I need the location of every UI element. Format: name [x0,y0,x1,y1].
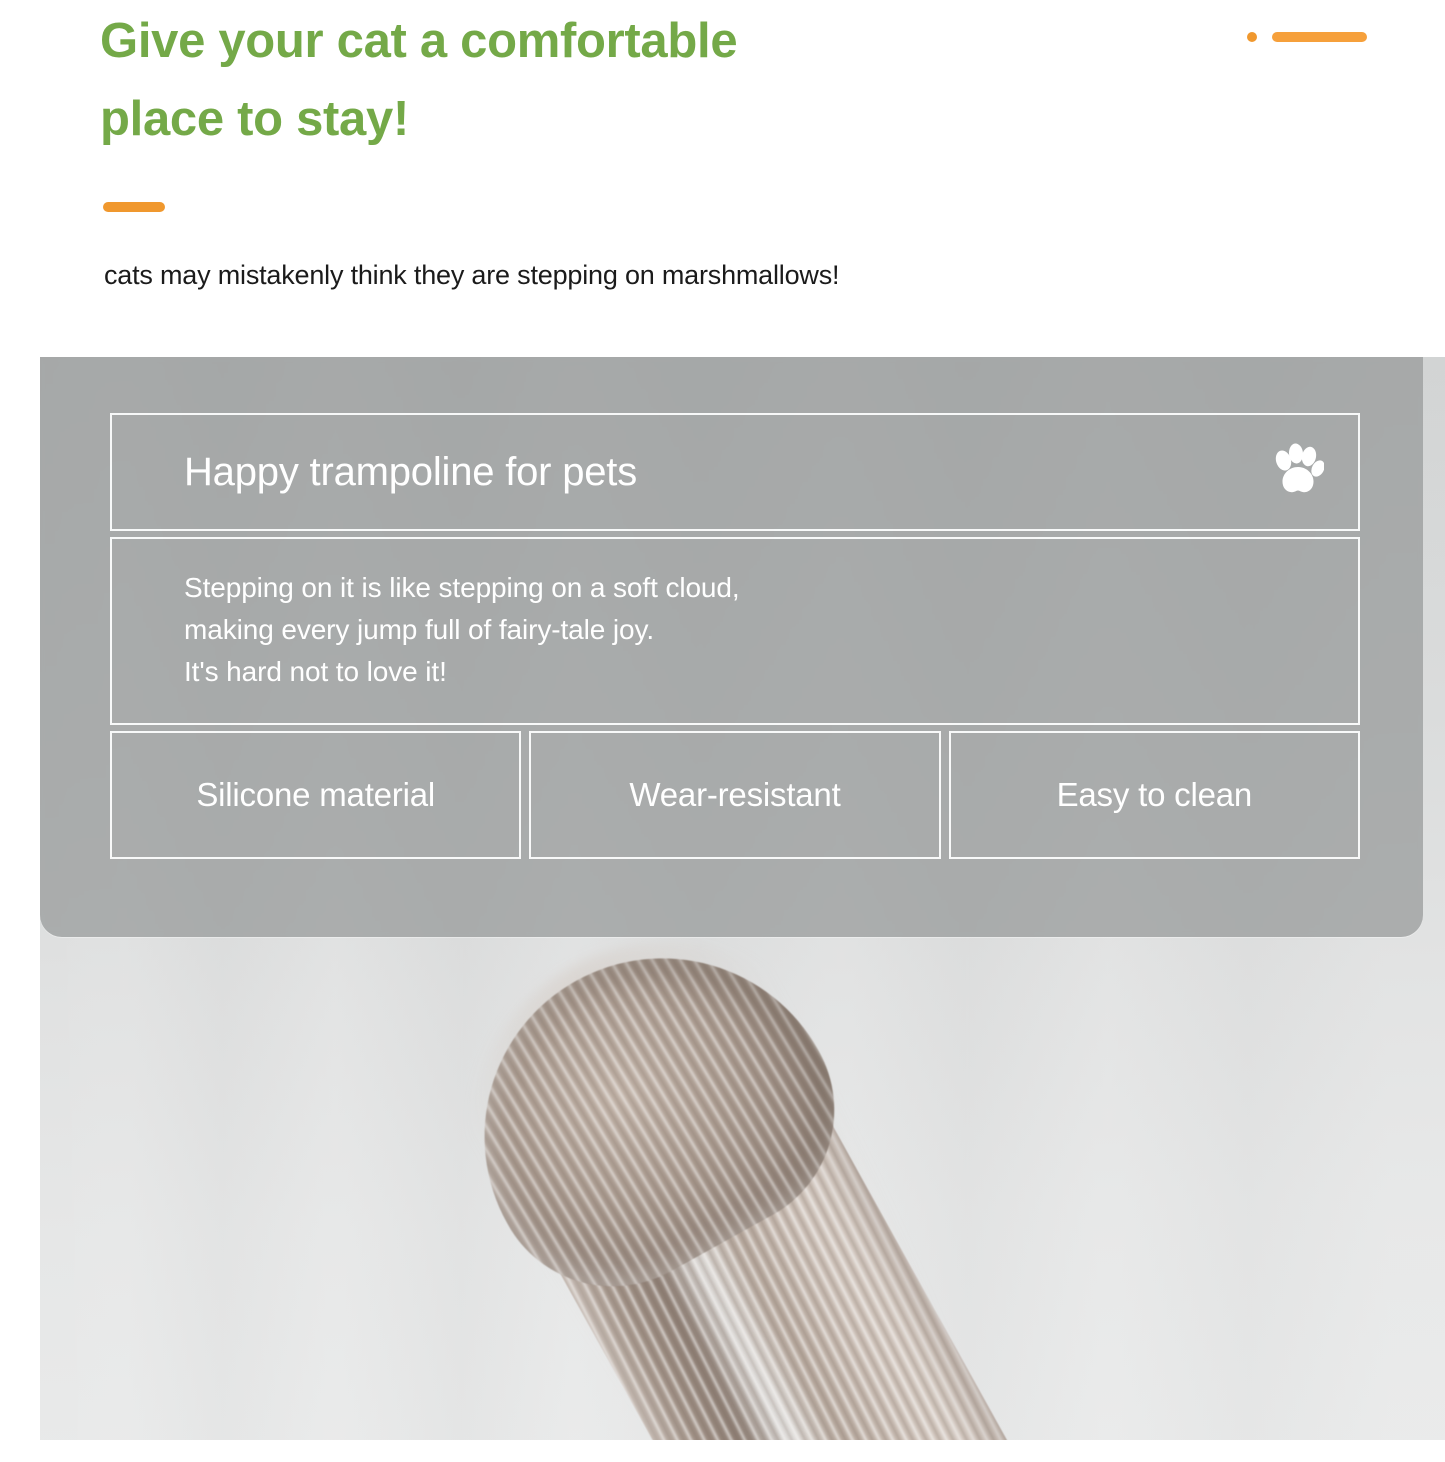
feature-label: Easy to clean [1057,776,1253,814]
card-title: Happy trampoline for pets [184,452,637,492]
feature-label: Silicone material [196,776,435,814]
title-underline-accent [103,202,165,212]
card-header: Happy trampoline for pets [110,413,1360,531]
bottom-white-strip [0,1440,1445,1462]
paw-fur-halo [402,872,1238,1440]
orange-bar-icon [1272,32,1367,42]
feature-label: Wear-resistant [629,776,840,814]
header-block: Give your cat a comfortable place to sta… [0,0,1445,357]
paw-pad [421,894,878,1329]
page-title: Give your cat a comfortable place to sta… [100,2,1100,158]
info-overlay-panel: Happy trampoline for pets Stepping on it… [40,357,1423,937]
feature-cell-wear-resistant: Wear-resistant [529,731,940,859]
left-white-gutter [0,357,40,1462]
corner-decoration [1247,32,1367,42]
feature-cell-silicone-material: Silicone material [110,731,521,859]
paw-limb [459,941,1196,1440]
feature-cell-easy-to-clean: Easy to clean [949,731,1360,859]
card-features-row: Silicone material Wear-resistant Easy to… [110,731,1360,859]
paw-icon [1272,443,1324,502]
orange-dot-icon [1247,32,1257,42]
card-body-text: Stepping on it is like stepping on a sof… [184,567,1358,693]
info-card: Happy trampoline for pets Stepping on it… [110,413,1360,859]
card-body: Stepping on it is like stepping on a sof… [110,537,1360,725]
page-subtitle: cats may mistakenly think they are stepp… [104,256,839,294]
